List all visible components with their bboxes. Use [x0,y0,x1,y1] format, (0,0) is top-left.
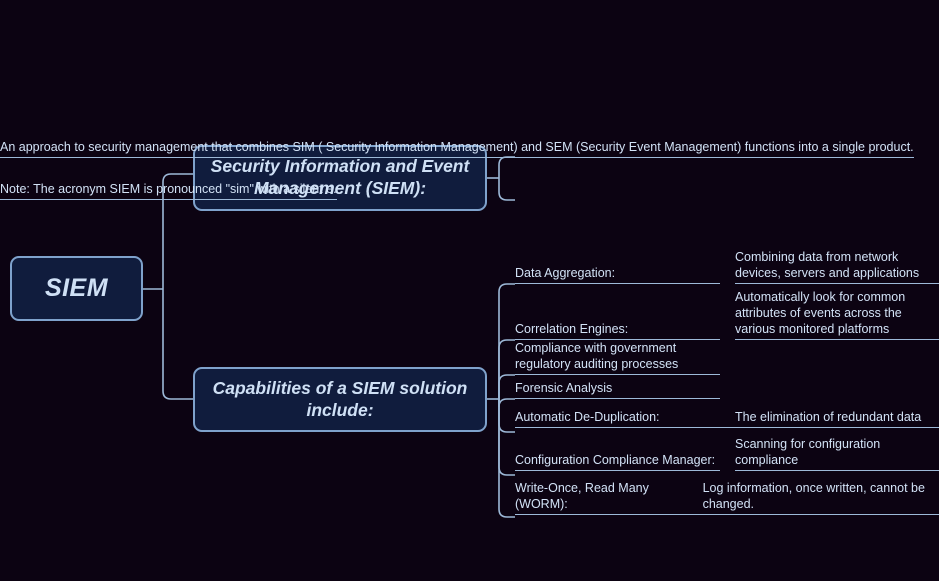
link-capability-5 [499,399,515,432]
capability-term-correlation-engines[interactable]: Correlation Engines: [515,288,720,340]
capability-description: Combining data from network devices, ser… [735,249,939,281]
capability-desc-correlation-engines[interactable]: Automatically look for common attributes… [735,288,939,340]
capability-row-automatic-deduplication[interactable]: Automatic De-Duplication: The eliminatio… [515,403,939,428]
capability-description: Scanning for configuration compliance [735,436,939,468]
detail-text: An approach to security management that … [0,139,914,155]
detail-siem-note[interactable]: Note: The acronym SIEM is pronounced "si… [0,160,337,200]
capability-term: Write-Once, Read Many (WORM): [515,480,703,512]
link-capability-6 [499,399,515,475]
root-node-siem[interactable]: SIEM [10,256,143,321]
link-capability-2 [499,340,515,399]
capability-term: Automatic De-Duplication: [515,409,735,425]
capability-description: Log information, once written, cannot be… [703,480,939,512]
capability-term: Configuration Compliance Manager: [515,452,715,468]
capability-description: The elimination of redundant data [735,409,921,425]
branch-node-label: Capabilities of a SIEM solution include: [207,378,473,422]
capability-description: Automatically look for common attributes… [735,289,939,337]
mindmap-canvas: SIEM Security Information and Event Mana… [0,0,939,581]
capability-term: Data Aggregation: [515,265,615,281]
capability-term: Compliance with government regulatory au… [515,340,720,372]
link-root-to-capabilities [163,289,193,399]
link-capability-1 [499,284,515,399]
detail-siem-definition-text[interactable]: An approach to security management that … [0,62,914,158]
capability-row-worm[interactable]: Write-Once, Read Many (WORM): Log inform… [515,478,939,515]
capability-term-data-aggregation[interactable]: Data Aggregation: [515,248,720,284]
capability-term: Forensic Analysis [515,380,612,396]
link-capability-7 [499,399,515,517]
branch-node-capabilities[interactable]: Capabilities of a SIEM solution include: [193,367,487,432]
note-text: Note: The acronym SIEM is pronounced "si… [0,181,337,197]
capability-desc-data-aggregation[interactable]: Combining data from network devices, ser… [735,248,939,284]
root-node-label: SIEM [45,273,108,304]
capability-term-configuration-compliance[interactable]: Configuration Compliance Manager: [515,436,720,471]
link-capability-3 [499,375,515,399]
capability-term-forensic-analysis[interactable]: Forensic Analysis [515,379,720,399]
link-definition-to-note [499,178,515,200]
link-definition-to-text [499,157,515,178]
capability-term-compliance-auditing[interactable]: Compliance with government regulatory au… [515,344,720,375]
capability-desc-configuration-compliance[interactable]: Scanning for configuration compliance [735,436,939,471]
capability-term: Correlation Engines: [515,321,628,337]
link-capability-4 [499,399,515,407]
